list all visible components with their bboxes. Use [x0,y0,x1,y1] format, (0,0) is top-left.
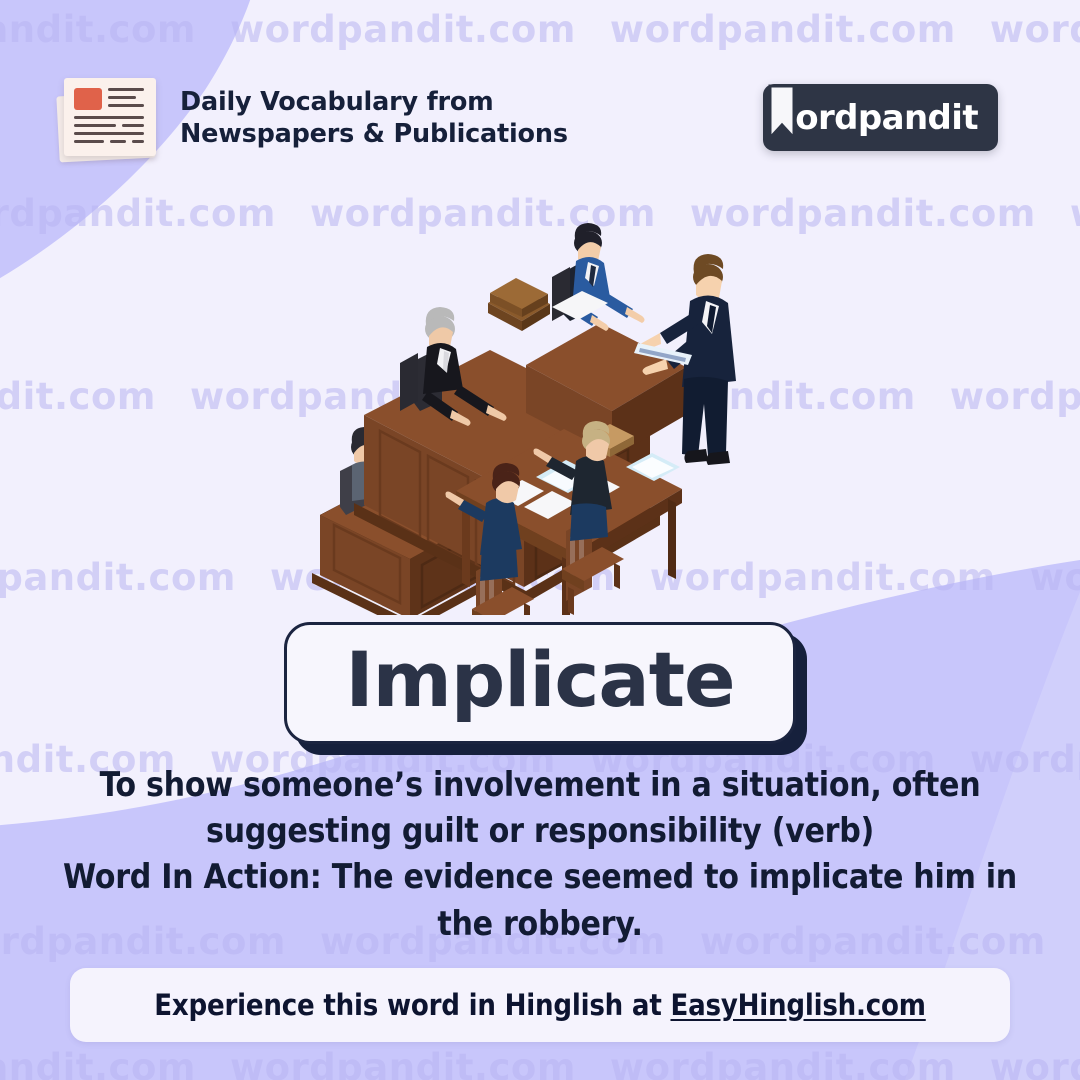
vocabulary-word: Implicate [345,639,734,721]
footer-text: Experience this word in Hinglish at Easy… [154,988,926,1022]
header: Daily Vocabulary from Newspapers & Publi… [52,68,568,168]
newspaper-icon [52,68,164,168]
word-badge-container: Implicate [0,622,1080,744]
header-title: Daily Vocabulary from Newspapers & Publi… [180,86,568,150]
definition-line-1: To show someone’s involvement in a situa… [36,762,1044,808]
definition-block: To show someone’s involvement in a situa… [36,762,1044,947]
definition-line-2: suggesting guilt or responsibility (verb… [36,808,1044,854]
easyhinglish-link[interactable]: EasyHinglish.com [670,988,925,1022]
wordpandit-logo[interactable]: ordpandit [763,84,998,151]
definition-line-3: Word In Action: The evidence seemed to i… [36,854,1044,900]
header-title-line2: Newspapers & Publications [180,118,568,150]
bookmark-w-icon [767,84,797,151]
footer-prefix: Experience this word in Hinglish at [154,988,670,1022]
brand-name: ordpandit [795,98,998,138]
poster-canvas: wordpandit.comwordpandit.comwordpandit.c… [0,0,1080,1080]
courtroom-scene-illustration [300,215,790,615]
footer-bar[interactable]: Experience this word in Hinglish at Easy… [70,968,1010,1042]
word-badge: Implicate [284,622,795,744]
header-title-line1: Daily Vocabulary from [180,86,568,118]
definition-line-4: the robbery. [36,901,1044,947]
